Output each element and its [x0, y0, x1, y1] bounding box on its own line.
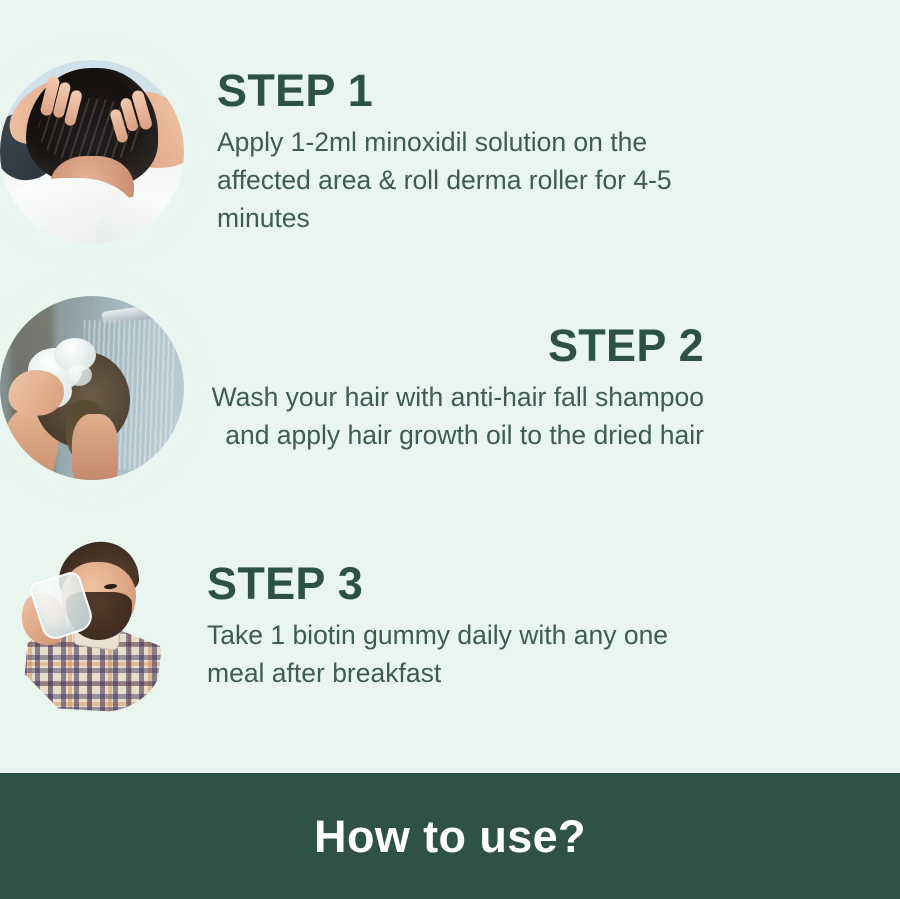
how-to-use-banner: How to use?: [0, 773, 900, 899]
how-to-use-poster: STEP 1 Apply 1-2ml minoxidil solution on…: [0, 0, 900, 899]
scalp-photo-illustration: [0, 60, 184, 244]
man-touching-scalp-photo: [0, 60, 184, 244]
man-drinking-water-photo: [0, 540, 170, 712]
step-2-description: Wash your hair with anti-hair fall shamp…: [206, 379, 704, 454]
shower-photo-illustration: [0, 296, 184, 480]
step-1-copy: STEP 1 Apply 1-2ml minoxidil solution on…: [217, 67, 717, 237]
step-row-2: STEP 2 Wash your hair with anti-hair fal…: [0, 296, 900, 480]
step-3-copy: STEP 3 Take 1 biotin gummy daily with an…: [207, 560, 707, 693]
step-1-description: Apply 1-2ml minoxidil solution on the af…: [217, 124, 717, 237]
shampoo-foam-shape-4: [66, 364, 92, 386]
step-row-3: STEP 3 Take 1 biotin gummy daily with an…: [0, 540, 900, 712]
step-3-title: STEP 3: [207, 560, 707, 609]
step-2-title: STEP 2: [206, 322, 704, 371]
step-2-copy: STEP 2 Wash your hair with anti-hair fal…: [206, 322, 704, 455]
person-shampooing-hair-in-shower-photo: [0, 296, 184, 480]
step-1-title: STEP 1: [217, 67, 717, 116]
step-row-1: STEP 1 Apply 1-2ml minoxidil solution on…: [0, 60, 900, 244]
neck-shape: [72, 414, 118, 480]
step-3-description: Take 1 biotin gummy daily with any one m…: [207, 617, 707, 692]
banner-title: How to use?: [314, 814, 586, 859]
